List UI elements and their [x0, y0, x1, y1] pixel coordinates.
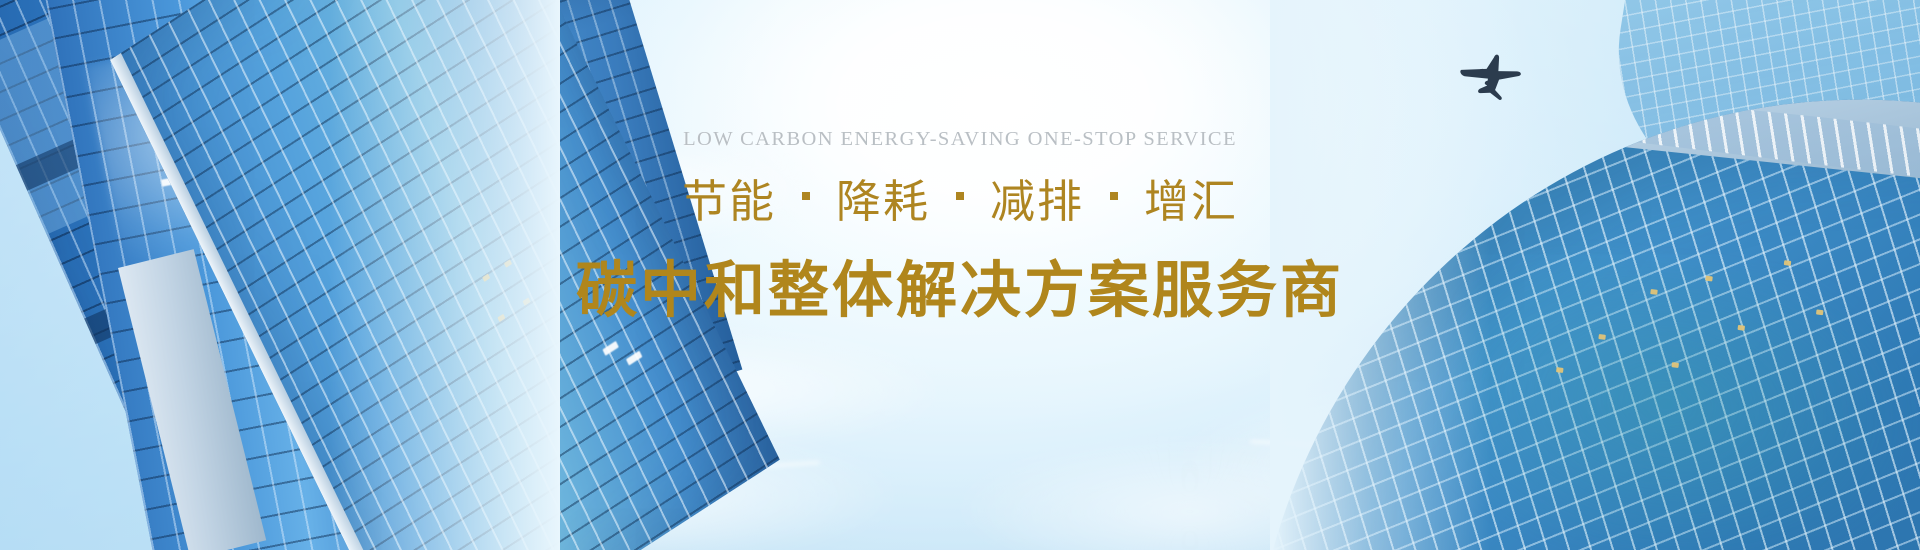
subtitle-segment-3: 减排 [980, 165, 1094, 230]
banner-content: LOW CARBON ENERGY-SAVING ONE-STOP SERVIC… [0, 0, 1920, 550]
subtitle-separator-dot [1110, 192, 1118, 200]
subtitle-segment-1: 节能 [672, 165, 786, 230]
banner-headline: 碳中和整体解决方案服务商 [576, 240, 1344, 329]
banner-subtitle: 节能 降耗 减排 增汇 [672, 165, 1248, 230]
subtitle-separator-dot [802, 192, 810, 200]
banner-eyebrow-text: LOW CARBON ENERGY-SAVING ONE-STOP SERVIC… [683, 128, 1237, 151]
subtitle-segment-2: 降耗 [826, 165, 940, 230]
subtitle-separator-dot [956, 192, 964, 200]
subtitle-segment-4: 增汇 [1134, 165, 1248, 230]
hero-banner: LOW CARBON ENERGY-SAVING ONE-STOP SERVIC… [0, 0, 1920, 550]
